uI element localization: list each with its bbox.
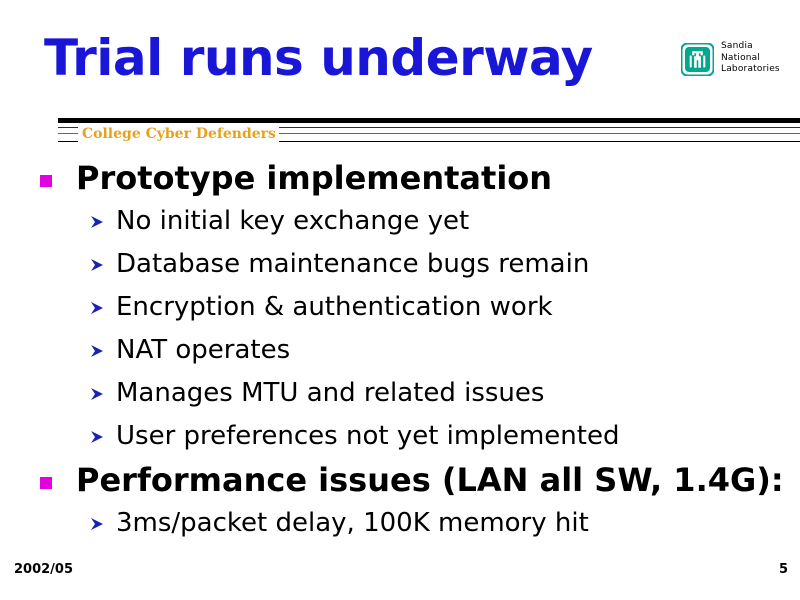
- bullet-text: NAT operates: [116, 335, 290, 365]
- bullet-text: 3ms/packet delay, 100K memory hit: [116, 508, 589, 538]
- bullet-text: Encryption & authentication work: [116, 292, 553, 322]
- page-title: Trial runs underway: [44, 32, 664, 85]
- bullet-text: User preferences not yet implemented: [116, 421, 619, 451]
- divider-rule-right-black: [279, 141, 800, 142]
- bullet-text: Performance issues (LAN all SW, 1.4G):: [76, 461, 784, 499]
- slide-body: Prototype implementation No initial key …: [0, 156, 800, 545]
- blue-arrowhead-bullet-icon: [90, 329, 110, 372]
- bullet-level2: 3ms/packet delay, 100K memory hit: [0, 502, 800, 545]
- blue-arrowhead-bullet-icon: [90, 243, 110, 286]
- sandia-logo-line-1: Sandia: [721, 41, 780, 53]
- bullet-level2: Encryption & authentication work: [0, 286, 800, 329]
- divider-rule-left-black: [58, 141, 78, 142]
- bullet-text: No initial key exchange yet: [116, 206, 469, 236]
- bullet-level1: Prototype implementation: [0, 156, 800, 200]
- bullet-text: Database maintenance bugs remain: [116, 249, 589, 279]
- bullet-text: Manages MTU and related issues: [116, 378, 544, 408]
- divider-rule-left-navy: [58, 127, 78, 128]
- sandia-logo-block: Sandia National Laboratories: [681, 43, 796, 89]
- bullet-level2: Database maintenance bugs remain: [0, 243, 800, 286]
- sandia-logo-text: Sandia National Laboratories: [721, 41, 780, 76]
- blue-arrowhead-bullet-icon: [90, 372, 110, 415]
- bullet-level2: Manages MTU and related issues: [0, 372, 800, 415]
- bullet-level2: NAT operates: [0, 329, 800, 372]
- sandia-logo-line-3: Laboratories: [721, 64, 780, 76]
- divider-rule-right-navy: [279, 127, 800, 128]
- divider-thick-bar: [58, 118, 800, 123]
- bullet-level2: No initial key exchange yet: [0, 200, 800, 243]
- magenta-square-bullet-icon: [40, 477, 52, 489]
- divider-rule-left-magenta: [58, 133, 78, 134]
- slide-canvas: Trial runs underway Sandia National Labo…: [0, 0, 800, 600]
- bullet-level1: Performance issues (LAN all SW, 1.4G):: [0, 458, 800, 502]
- footer-page-number: 5: [779, 562, 800, 577]
- blue-arrowhead-bullet-icon: [90, 502, 110, 545]
- magenta-square-bullet-icon: [40, 175, 52, 187]
- blue-arrowhead-bullet-icon: [90, 286, 110, 329]
- divider-rule-right-magenta: [279, 133, 800, 134]
- blue-arrowhead-bullet-icon: [90, 415, 110, 458]
- bullet-level2: User preferences not yet implemented: [0, 415, 800, 458]
- sandia-thunderbird-icon: [681, 43, 714, 76]
- blue-arrowhead-bullet-icon: [90, 200, 110, 243]
- sandia-logo-line-2: National: [721, 53, 780, 65]
- footer-date: 2002/05: [14, 562, 73, 577]
- bullet-text: Prototype implementation: [76, 159, 552, 197]
- title-divider-band: College Cyber Defenders: [0, 114, 800, 154]
- band-label-college-cyber-defenders: College Cyber Defenders: [82, 126, 276, 142]
